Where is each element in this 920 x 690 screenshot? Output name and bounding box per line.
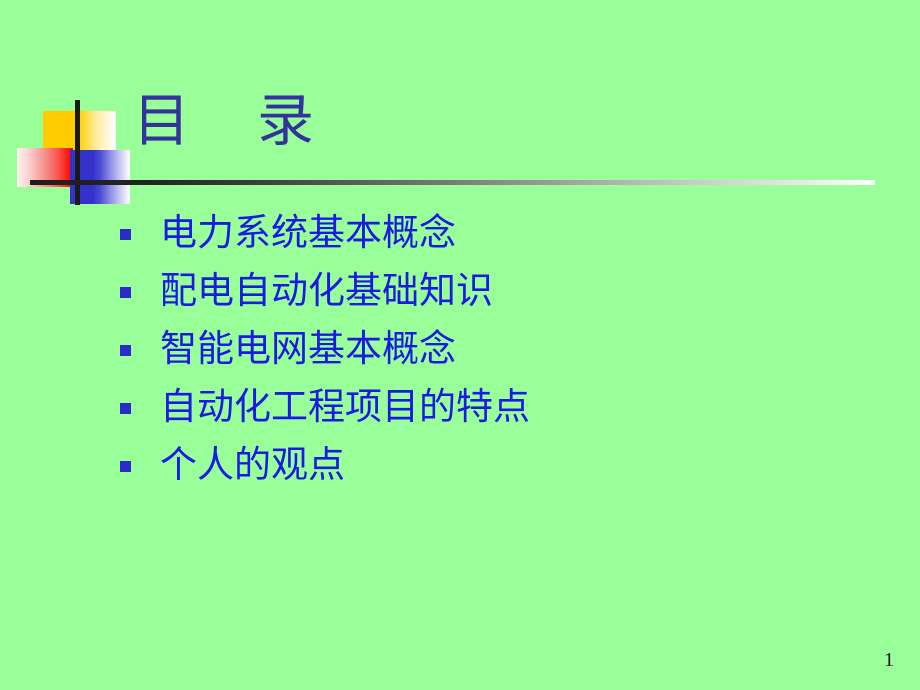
- list-item[interactable]: 个人的观点: [120, 437, 860, 495]
- bullet-square-icon: [120, 345, 131, 356]
- list-item[interactable]: 智能电网基本概念: [120, 321, 860, 379]
- decorative-vertical-bar: [75, 100, 80, 205]
- decorative-blue-block: [70, 150, 130, 204]
- agenda-list: 电力系统基本概念 配电自动化基础知识 智能电网基本概念 自动化工程项目的特点 个…: [120, 205, 860, 495]
- list-item-label: 智能电网基本概念: [160, 328, 456, 372]
- decorative-red-block: [17, 148, 73, 187]
- list-item-label: 配电自动化基础知识: [160, 270, 493, 314]
- page-title: 目 录: [133, 86, 316, 158]
- page-number: 1: [874, 648, 904, 672]
- bullet-square-icon: [120, 229, 131, 240]
- title-horizontal-rule: [30, 180, 875, 185]
- presentation-slide: 目 录 电力系统基本概念 配电自动化基础知识 智能电网基本概念 自动化工程项目的…: [0, 0, 920, 690]
- list-item[interactable]: 自动化工程项目的特点: [120, 379, 860, 437]
- list-item-label: 自动化工程项目的特点: [160, 386, 530, 430]
- bullet-square-icon: [120, 461, 131, 472]
- list-item[interactable]: 电力系统基本概念: [120, 205, 860, 263]
- list-item[interactable]: 配电自动化基础知识: [120, 263, 860, 321]
- list-item-label: 电力系统基本概念: [160, 212, 456, 256]
- decorative-yellow-block: [43, 111, 116, 151]
- list-item-label: 个人的观点: [160, 444, 345, 488]
- bullet-square-icon: [120, 403, 131, 414]
- bullet-square-icon: [120, 287, 131, 298]
